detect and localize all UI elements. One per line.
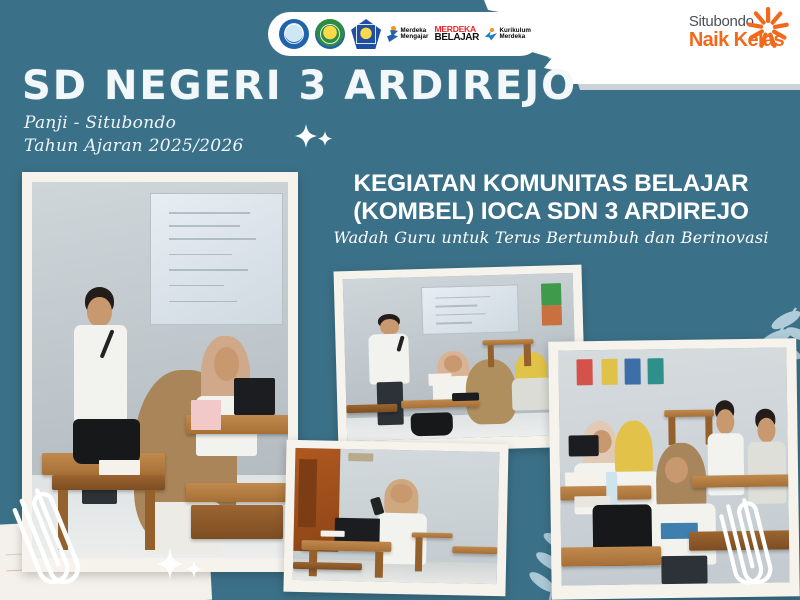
situbondo-regency-logo bbox=[315, 19, 345, 49]
event-title-line1: KEGIATAN KOMUNITAS BELAJAR bbox=[312, 170, 790, 198]
photo-frame-3 bbox=[283, 440, 508, 597]
paperclip-bottom-right bbox=[712, 492, 790, 596]
school-name-title: SD NEGERI 3 ARDIREJO bbox=[22, 66, 577, 106]
school-academic-year: Tahun Ajaran 2025/2026 bbox=[24, 135, 244, 158]
poster-canvas: Merdeka Mengajar MERDEKA BELAJAR Kurikul… bbox=[0, 0, 800, 600]
paperclip-bottom-left bbox=[8, 478, 98, 598]
event-title-line2: (KOMBEL) IOCA SDN 3 ARDIREJO bbox=[312, 198, 790, 226]
school-location: Panji - Situbondo bbox=[24, 112, 244, 135]
tut-wuri-handayani-logo bbox=[279, 19, 309, 49]
kurikulum-merdeka-logo: Kurikulum Merdeka bbox=[485, 28, 531, 41]
kurikulum-merdeka-icon bbox=[485, 28, 497, 41]
merdeka-belajar-line2: BELAJAR bbox=[435, 33, 479, 43]
situbondo-naik-kelas-brand: Situbondo Naik Kelas bbox=[689, 14, 784, 50]
merdeka-mengajar-logo: Merdeka Mengajar bbox=[387, 26, 428, 42]
kurikulum-merdeka-line2: Merdeka bbox=[499, 34, 531, 40]
merdeka-mengajar-icon bbox=[387, 26, 398, 42]
kementerian-pendidikan-logo bbox=[351, 19, 381, 49]
institution-logo-bar: Merdeka Mengajar MERDEKA BELAJAR Kurikul… bbox=[268, 12, 542, 56]
sunburst-icon bbox=[746, 6, 790, 50]
school-subtitle: Panji - Situbondo Tahun Ajaran 2025/2026 bbox=[24, 112, 244, 158]
merdeka-mengajar-line2: Mengajar bbox=[401, 34, 429, 40]
photo-image-3 bbox=[293, 448, 500, 584]
event-title: KEGIATAN KOMUNITAS BELAJAR (KOMBEL) IOCA… bbox=[312, 170, 790, 225]
merdeka-belajar-logo: MERDEKA BELAJAR bbox=[435, 25, 479, 43]
sparkle-cluster-bottom bbox=[152, 548, 212, 588]
event-tagline: Wadah Guru untuk Terus Bertumbuh dan Ber… bbox=[312, 228, 790, 247]
photo-image-2 bbox=[343, 273, 577, 441]
sparkle-cluster-top bbox=[292, 124, 342, 150]
